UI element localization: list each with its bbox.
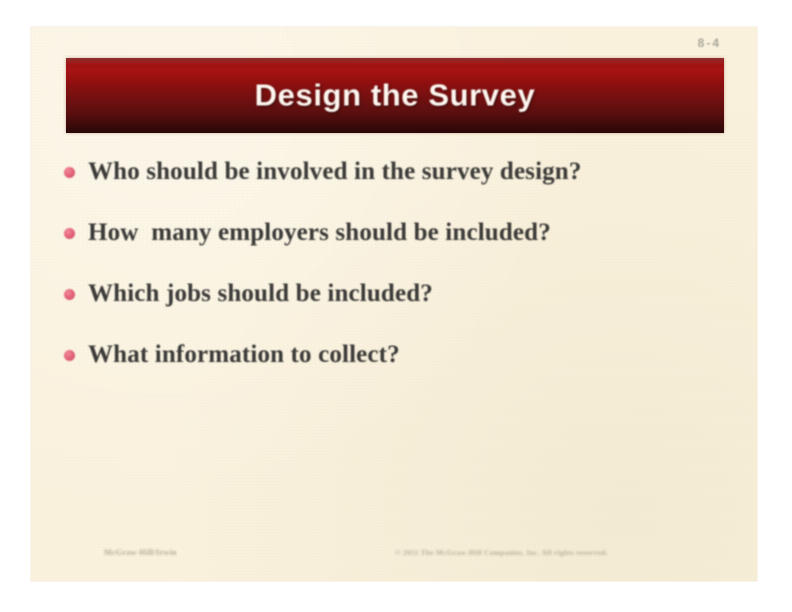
title-banner: Design the Survey <box>66 58 724 133</box>
list-item: What information to collect? <box>62 338 732 372</box>
list-item: How many employers should be included? <box>62 216 732 250</box>
bullet-text: Which jobs should be included? <box>88 280 433 308</box>
slide-frame: 8-4 Design the Survey Who should be invo… <box>0 0 792 612</box>
bullet-text: How many employers should be included? <box>88 219 551 247</box>
bullet-text: What information to collect? <box>88 341 400 369</box>
list-item: Which jobs should be included? <box>62 277 732 311</box>
publisher-footer: McGraw-Hill/Irwin <box>104 548 177 557</box>
copyright-footer: © 2011 The McGraw-Hill Companies, Inc. A… <box>395 548 608 557</box>
slide-canvas: 8-4 Design the Survey Who should be invo… <box>31 27 757 581</box>
list-item: Who should be involved in the survey des… <box>62 155 732 189</box>
bullet-list: Who should be involved in the survey des… <box>62 155 732 399</box>
slide-number: 8-4 <box>698 36 721 50</box>
round-bullet-icon <box>64 228 75 239</box>
round-bullet-icon <box>64 350 75 361</box>
bullet-text: Who should be involved in the survey des… <box>88 158 582 186</box>
slide-title: Design the Survey <box>66 77 724 113</box>
round-bullet-icon <box>64 167 75 178</box>
round-bullet-icon <box>64 289 75 300</box>
